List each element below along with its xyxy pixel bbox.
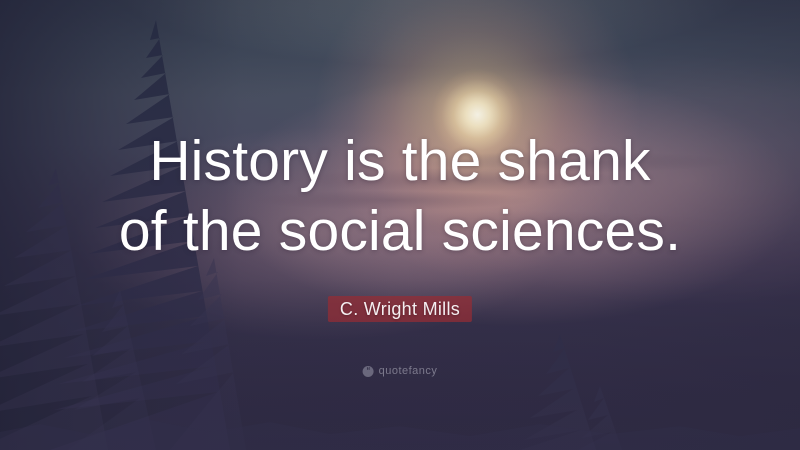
quote-line-1: History is the shank: [149, 129, 650, 193]
quote-text: History is the shank of the social scien…: [0, 126, 800, 266]
quote-mark-icon: “: [363, 366, 374, 377]
author-name-badge: C. Wright Mills: [328, 296, 472, 322]
watermark[interactable]: “ quotefancy: [363, 365, 438, 377]
watermark-brand: quotefancy: [379, 365, 438, 377]
poster-content: History is the shank of the social scien…: [0, 0, 800, 450]
quote-poster: History is the shank of the social scien…: [0, 0, 800, 450]
quote-line-2: of the social sciences.: [119, 199, 681, 263]
